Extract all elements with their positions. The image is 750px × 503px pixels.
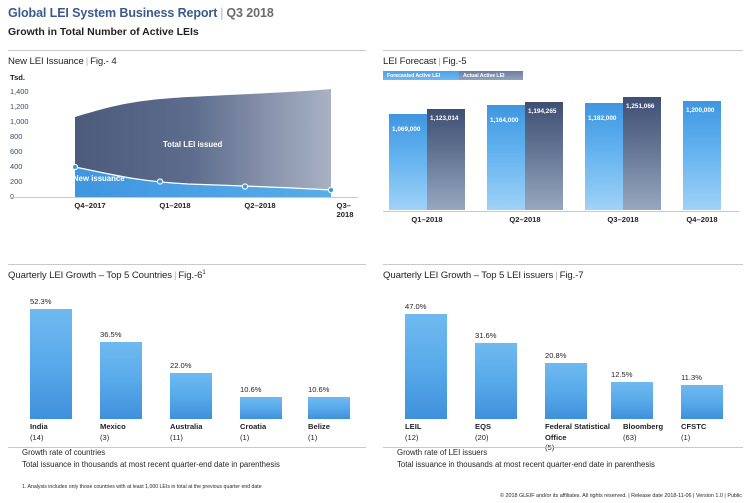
bar-value-actual-q3-2018: 1,251,066	[626, 103, 654, 110]
country-name: Australia	[170, 422, 248, 433]
data-point-marker	[72, 164, 77, 169]
panel-figure-label: Fig.-5	[443, 56, 467, 67]
page-subtitle: Growth in Total Number of Active LEIs	[8, 26, 742, 38]
bar-croatia	[240, 397, 282, 419]
bar-value-india: 52.3%	[30, 297, 52, 306]
chart-lei-forecast: 1,069,000 1,123,014 1,164,000 1,194,265 …	[383, 84, 743, 234]
bar-australia	[170, 373, 212, 419]
x-tick-q4-2018: Q4–2018	[686, 215, 717, 224]
x-tick-q4-2017: Q4–2017	[74, 201, 105, 210]
x-label-croatia: Croatia (1)	[240, 422, 318, 443]
country-name: Belize	[308, 422, 386, 433]
x-axis-labels: Q4–2017 Q1–2018 Q2–2018 Q3–2018	[48, 201, 360, 215]
page-title: Global LEI System Business Report|Q3 201…	[8, 6, 742, 20]
bar-value-forecast-q2-2018: 1,164,000	[490, 117, 518, 124]
issuer-count: (1)	[681, 433, 750, 444]
x-axis-labels: Q1–2018 Q2–2018 Q3–2018 Q4–2018	[383, 215, 739, 229]
y-tick-800: 800	[10, 132, 22, 141]
report-header: Global LEI System Business Report|Q3 201…	[8, 6, 742, 38]
page-footer: © 2018 GLEIF and/or its affiliates. All …	[500, 493, 742, 499]
caption-line-1: Growth rate of countries	[22, 447, 280, 459]
bar-belize	[308, 397, 350, 419]
x-label-leil: LEIL (12)	[405, 422, 483, 443]
issuer-name: CFSTC	[681, 422, 750, 433]
panel-title-top-5-countries: Quarterly LEI Growth – Top 5 Countries|F…	[8, 270, 366, 281]
chart-footnote: 1. Analysis includes only those countrie…	[22, 484, 262, 490]
bar-value-actual-q1-2018: 1,123,014	[430, 115, 458, 122]
issuer-name: LEIL	[405, 422, 483, 433]
panel-divider	[383, 50, 743, 51]
x-label-eqs: EQS (20)	[475, 422, 553, 443]
x-label-cfstc: CFSTC (1)	[681, 422, 750, 443]
bar-cfstc	[681, 385, 723, 419]
panel-divider	[8, 264, 366, 265]
x-tick-q3-2018: Q3–2018	[337, 201, 354, 219]
issuer-count: (20)	[475, 433, 553, 444]
panel-figure-label: Fig.-6	[178, 270, 202, 281]
issuers-plot: 47.0% 31.6% 20.8% 12.5% 11.3%	[383, 289, 741, 419]
country-name: Mexico	[100, 422, 178, 433]
bar-forecast-q4-2018	[683, 101, 721, 210]
y-tick-600: 600	[10, 147, 22, 156]
bar-eqs	[475, 343, 517, 419]
panel-figure-label: Fig.- 4	[90, 56, 117, 67]
bar-india	[30, 309, 72, 419]
caption-line-1: Growth rate of LEI issuers	[397, 447, 655, 459]
panel-divider	[383, 264, 743, 265]
issuer-name: Federal Statistical Office	[545, 422, 617, 443]
country-count: (1)	[240, 433, 318, 444]
country-name: Croatia	[240, 422, 318, 433]
legend-item-actual: Actual Active LEI	[459, 71, 523, 80]
x-tick-q2-2018: Q2–2018	[509, 215, 540, 224]
bar-value-leil: 47.0%	[405, 302, 427, 311]
country-count: (1)	[308, 433, 386, 444]
bar-value-federal-statistical-office: 20.8%	[545, 351, 567, 360]
bar-actual-q2-2018	[525, 102, 563, 210]
report-page: Global LEI System Business Report|Q3 201…	[0, 0, 750, 503]
bar-value-belize: 10.6%	[308, 385, 330, 394]
chart-legend: Forecasted Active LEI Actual Active LEI	[383, 71, 523, 80]
bar-actual-q1-2018	[427, 109, 465, 210]
y-axis-title: Tsd.	[10, 73, 25, 82]
panel-figure-footnote-marker: 1	[202, 270, 205, 276]
caption-line-2: Total issuance in thousands at most rece…	[22, 459, 280, 471]
forecast-plot: 1,069,000 1,123,014 1,164,000 1,194,265 …	[383, 84, 739, 210]
bar-value-forecast-q1-2018: 1,069,000	[392, 126, 420, 133]
area-plot: Total LEI issued New issuance	[48, 84, 358, 194]
panel-divider	[8, 50, 366, 51]
x-label-belize: Belize (1)	[308, 422, 386, 443]
country-count: (14)	[30, 433, 108, 444]
issuer-name: EQS	[475, 422, 553, 433]
y-tick-1000: 1,000	[10, 117, 29, 126]
bar-value-forecast-q3-2018: 1,182,000	[588, 115, 616, 122]
report-quarter: Q3 2018	[226, 6, 273, 20]
bar-leil	[405, 314, 447, 419]
country-name: India	[30, 422, 108, 433]
x-label-mexico: Mexico (3)	[100, 422, 178, 443]
country-count: (11)	[170, 433, 248, 444]
bar-bloomberg	[611, 382, 653, 419]
panel-title-new-lei-issuance: New LEI Issuance|Fig.- 4	[8, 56, 366, 67]
bar-value-cfstc: 11.3%	[681, 373, 702, 382]
data-point-marker	[328, 187, 333, 192]
x-axis-line	[383, 211, 739, 212]
bar-value-mexico: 36.5%	[100, 330, 122, 339]
panel-figure-label: Fig.-7	[560, 270, 584, 281]
x-label-australia: Australia (11)	[170, 422, 248, 443]
report-title-text: Global LEI System Business Report	[8, 6, 217, 20]
y-tick-1200: 1,200	[10, 102, 29, 111]
y-tick-400: 400	[10, 162, 22, 171]
panel-title-top-5-issuers: Quarterly LEI Growth – Top 5 LEI issuers…	[383, 270, 743, 281]
y-tick-200: 200	[10, 177, 22, 186]
panel-top-5-countries: Quarterly LEI Growth – Top 5 Countries|F…	[8, 264, 366, 496]
chart-top-5-countries: 52.3% 36.5% 22.0% 10.6% 10.6% India (14)…	[8, 289, 366, 439]
bar-value-croatia: 10.6%	[240, 385, 262, 394]
y-tick-1400: 1,400	[10, 87, 29, 96]
series-label-total-lei-issued: Total LEI issued	[163, 140, 222, 149]
panel-top-5-issuers: Quarterly LEI Growth – Top 5 LEI issuers…	[383, 264, 743, 496]
bar-value-actual-q2-2018: 1,194,265	[528, 108, 556, 115]
x-axis-line	[10, 197, 358, 198]
panel-title-text: Quarterly LEI Growth – Top 5 Countries	[8, 270, 172, 281]
bar-value-bloomberg: 12.5%	[611, 370, 633, 379]
x-label-india: India (14)	[30, 422, 108, 443]
legend-item-forecasted: Forecasted Active LEI	[383, 71, 459, 80]
panel-lei-forecast: LEI Forecast|Fig.-5 Forecasted Active LE…	[383, 50, 743, 240]
x-tick-q1-2018: Q1–2018	[159, 201, 190, 210]
bar-federal-statistical-office	[545, 363, 587, 419]
panel-title-text: LEI Forecast	[383, 56, 436, 67]
series-label-new-issuance: New issuance	[73, 174, 125, 183]
panel-new-lei-issuance: New LEI Issuance|Fig.- 4 Tsd. 1,400 1,20…	[8, 50, 366, 240]
country-count: (3)	[100, 433, 178, 444]
data-point-marker	[157, 179, 162, 184]
bar-value-australia: 22.0%	[170, 361, 192, 370]
chart-top-5-issuers: 47.0% 31.6% 20.8% 12.5% 11.3% LEIL (12) …	[383, 289, 743, 439]
chart-caption-countries: Growth rate of countries Total issuance …	[22, 447, 280, 470]
panel-title-lei-forecast: LEI Forecast|Fig.-5	[383, 56, 743, 67]
countries-plot: 52.3% 36.5% 22.0% 10.6% 10.6%	[8, 289, 366, 419]
bar-value-forecast-q4-2018: 1,200,000	[686, 107, 714, 114]
x-tick-q3-2018: Q3–2018	[607, 215, 638, 224]
panel-title-text: Quarterly LEI Growth – Top 5 LEI issuers	[383, 270, 553, 281]
bar-mexico	[100, 342, 142, 419]
issuer-count: (12)	[405, 433, 483, 444]
panel-title-text: New LEI Issuance	[8, 56, 84, 67]
data-point-marker	[242, 184, 247, 189]
chart-new-lei-issuance: Tsd. 1,400 1,200 1,000 800 600 400 200 0	[8, 73, 366, 228]
chart-caption-issuers: Growth rate of LEI issuers Total issuanc…	[397, 447, 655, 470]
x-tick-q2-2018: Q2–2018	[244, 201, 275, 210]
bar-value-eqs: 31.6%	[475, 331, 497, 340]
caption-line-2: Total issuance in thousands at most rece…	[397, 459, 655, 471]
bar-actual-q3-2018	[623, 97, 661, 210]
x-tick-q1-2018: Q1–2018	[411, 215, 442, 224]
